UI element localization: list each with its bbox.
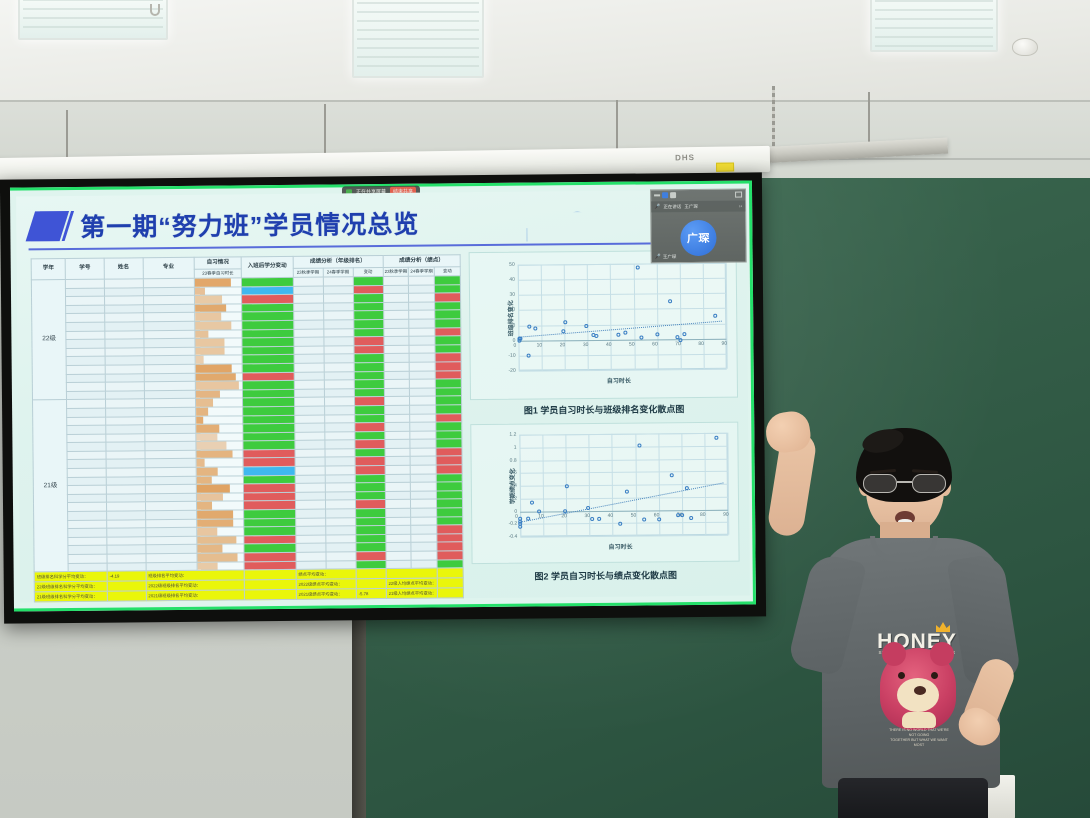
casing-brand-label: DHS [675,153,695,162]
cell-gpa-24spring [409,276,435,285]
x-axis-title: 自习时长 [607,376,631,385]
x-tick-label: 10 [537,342,543,348]
cell-name [106,459,145,468]
cell-rank-bar [354,388,384,397]
cell-rank-24spring [325,466,355,475]
cell-rank-bar [356,543,386,552]
cell-rank-24spring [324,371,354,380]
mic-small-icon: 🎤 [655,254,661,260]
cell-student-id [67,468,106,477]
cell-rank-bar [355,466,385,475]
cell-gpa-bar [435,310,461,319]
cell-rank-bar [356,560,386,569]
bear-belly [902,712,936,728]
cell-rank-bar [354,423,384,432]
cell-gpa-bar [437,559,463,568]
cell-rank-24spring [324,406,354,415]
cell-student-id [68,563,107,572]
cell-rank-24spring [325,440,355,449]
cell-rank-23fall [294,380,324,389]
cell-rank-bar [355,491,385,500]
cell-rank-24spring [323,303,353,312]
data-point [518,336,522,340]
bear-graphic [880,648,956,730]
cell-rank-bar [353,302,383,311]
cell-rank-bar [355,448,385,457]
ceiling-light-panel [870,0,998,52]
light-grill [875,0,993,47]
layout-grid-icon[interactable] [662,192,668,198]
cell-rank-bar [355,431,385,440]
cell-rank-23fall [295,458,325,467]
glasses-bridge [897,481,912,483]
cell-rank-bar [354,345,384,354]
cell-gpa-24spring [410,448,436,457]
summary-label: 22级班级排名科学分平均变动： [34,581,107,592]
cell-student-id [68,528,107,537]
bear-ear-right [930,642,954,666]
cell-rank-bar [355,500,385,509]
cell-rank-23fall [295,518,325,527]
cell-name [105,373,144,382]
cell-gpa-bar [435,276,461,285]
cell-student-id [66,296,105,305]
th-sub-gpa-24chun: 24春季学期 [409,267,435,277]
layout-list-icon[interactable] [670,192,676,198]
cell-gpa-24spring [411,517,437,526]
cell-gpa-24spring [410,371,436,380]
cell-student-id [68,485,107,494]
cell-gpa-23fall [384,371,410,380]
cell-rank-23fall [295,483,325,492]
cell-rank-24spring [324,354,354,363]
cell-rank-bar [353,285,383,294]
row-group-label: 22级 [31,280,66,401]
th-sub-rank-biandong: 变动 [353,267,383,277]
cell-gpa-24spring [410,422,436,431]
cell-gpa-23fall [383,276,409,285]
cell-rank-bar [355,517,385,526]
cell-rank-bar [354,354,384,363]
cell-gpa-23fall [385,431,411,440]
cell-rank-bar [354,337,384,346]
data-point [635,266,639,270]
x-tick-label: 20 [560,342,566,348]
summary-value [244,570,296,580]
data-point [642,517,646,521]
cell-rank-23fall [293,320,323,329]
cell-name [106,425,145,434]
data-point [565,484,569,488]
cell-gpa-23fall [384,422,410,431]
cell-rank-bar [353,319,383,328]
cell-gpa-bar [436,456,462,465]
data-point [656,332,660,336]
cell-gpa-23fall [386,551,412,560]
cell-gpa-bar [435,336,461,345]
cell-rank-bar [354,328,384,337]
video-tile-toolbar[interactable] [651,190,745,201]
data-point [584,324,588,328]
cell-student-id [68,511,107,520]
cell-gpa-bar [436,482,462,491]
cell-rank-23fall [295,526,325,535]
cell-gpa-23fall [383,293,409,302]
th-xuehao: 学号 [65,258,104,279]
cell-rank-23fall [293,294,323,303]
summary-label: 2021级绩点平均变动： [296,589,356,600]
ceiling-hook [150,4,160,16]
cell-gpa-23fall [384,388,410,397]
x-tick-label: 50 [631,512,637,518]
y-tick-label: 40 [501,277,515,283]
th-zhuanye: 专业 [143,257,195,278]
presentation-slide: 第一期“努力班”学员情况总览 [16,190,750,603]
cell-rank-23fall [295,509,325,518]
cell-rank-bar [354,371,384,380]
cell-name [106,451,145,460]
cell-rank-bar [354,380,384,389]
cell-rank-24spring [324,328,354,337]
summary-value [107,581,146,591]
table-element: 学年 学号 姓名 专业 自习情况 入班后学分变动 成绩分析（年级排名） 成绩分析… [31,254,464,602]
cell-gpa-23fall [384,328,410,337]
cell-gpa-bar [437,499,463,508]
cell-name [105,305,144,314]
cell-gpa-24spring [410,413,436,422]
cell-rank-23fall [295,535,325,544]
cell-rank-23fall [294,372,324,381]
cell-gpa-23fall [385,517,411,526]
screen-surface: 正在共享屏幕 结束共享 第一期“努力班”学员情况总览 [10,180,756,611]
cell-rank-23fall [293,277,323,286]
cell-gpa-24spring [410,405,436,414]
cell-gpa-bar [437,534,463,543]
th-sub-rank-23qiu: 23秋季学期 [293,268,323,278]
cell-gpa-23fall [383,302,409,311]
cell-gpa-23fall [385,440,411,449]
x-tick-label: 50 [629,341,635,347]
expand-icon[interactable] [735,192,742,198]
y-tick-label: -20 [502,368,516,374]
cell-name [106,433,145,442]
cell-gpa-bar [435,344,461,353]
cell-rank-bar [353,276,383,285]
cell-name [106,502,145,511]
x-tick-label: 90 [723,511,729,517]
cell-student-id [68,494,107,503]
page-title: 第一期“努力班”学员情况总览 [80,205,419,244]
figure-2-caption-wrap: 图2 学员自习时长与绩点变化散点图 [472,568,740,571]
cell-rank-24spring [326,543,356,552]
cell-gpa-23fall [384,405,410,414]
cell-gpa-23fall [385,525,411,534]
data-point [563,510,567,514]
cell-student-id [66,322,105,331]
cell-student-id [66,279,105,288]
cell-student-id [67,434,106,443]
x-tick-label: 40 [606,342,612,348]
video-participant-tile[interactable]: 🎤 正在讲话 王广琛 ›› 广琛 🎤 王广琛 [650,189,747,264]
cell-student-id [67,391,106,400]
cell-name [105,391,144,400]
summary-value: -4.19 [107,571,146,581]
cell-gpa-24spring [410,379,436,388]
cell-gpa-24spring [411,508,437,517]
cell-student-id [67,382,106,391]
cell-gpa-24spring [411,542,437,551]
share-border-right [749,180,756,604]
summary-label: 21级人均绩点平均变动： [386,588,438,598]
cell-gpa-23fall [385,457,411,466]
cell-rank-23fall [293,329,323,338]
projector-screen: 正在共享屏幕 结束共享 第一期“努力班”学员情况总览 [0,172,766,623]
cell-rank-bar [354,397,384,406]
cell-gpa-23fall [385,465,411,474]
cell-rank-bar [355,440,385,449]
cell-rank-bar [355,457,385,466]
cell-rank-23fall [294,337,324,346]
cell-gpa-23fall [383,319,409,328]
cell-name [105,365,144,374]
cell-student-id [67,399,106,408]
cell-gpa-24spring [409,345,435,354]
cell-gpa-bar [436,405,462,414]
cell-gpa-24spring [411,525,437,534]
cell-rank-23fall [296,552,326,561]
cell-gpa-24spring [411,534,437,543]
cell-rank-23fall [294,432,324,441]
y-tick-label: 1 [502,444,516,450]
student-overview-table: 学年 学号 姓名 专业 自习情况 入班后学分变动 成绩分析（年级排名） 成绩分析… [31,254,464,588]
cell-rank-bar [356,551,386,560]
x-tick-label: 40 [608,512,614,518]
cell-gpa-23fall [383,285,409,294]
cell-rank-24spring [325,449,355,458]
cell-rank-24spring [324,397,354,406]
cell-rank-23fall [294,406,324,415]
cell-rank-bar [355,509,385,518]
cell-student-id [67,374,106,383]
cell-rank-24spring [326,552,356,561]
light-chain [772,86,775,156]
cell-name [107,537,146,546]
cell-student-id [68,503,107,512]
cell-gpa-bar [437,516,463,525]
cell-gpa-23fall [384,379,410,388]
cell-name [104,296,143,305]
summary-value [356,569,386,579]
data-point [561,329,565,333]
ceiling-light-panel [352,0,484,78]
cell-rank-24spring [324,388,354,397]
cell-rank-23fall [293,311,323,320]
minimize-icon[interactable] [654,195,660,197]
cell-rank-24spring [324,363,354,372]
cell-gpa-bar [436,430,462,439]
cell-rank-24spring [325,474,355,483]
cell-rank-23fall [296,561,326,570]
th-xuefen-biandong: 入班后学分变动 [241,256,293,277]
cell-name [104,287,143,296]
cell-rank-24spring [324,380,354,389]
cell-gpa-bar [435,362,461,371]
cell-rank-24spring [325,500,355,509]
y-tick-label: -0.2 [503,521,517,527]
cell-rank-23fall [293,286,323,295]
chevron-right-icon[interactable]: ›› [739,204,742,210]
cell-rank-24spring [324,337,354,346]
cell-gpa-23fall [384,345,410,354]
cell-gpa-23fall [383,311,409,320]
cell-rank-24spring [325,535,355,544]
cell-gpa-24spring [410,439,436,448]
cell-gpa-24spring [411,551,437,560]
cell-gpa-24spring [409,336,435,345]
th-sub-gpa-biandong: 变动 [434,266,460,276]
summary-label: 班级排名科学分平均变动： [34,571,107,582]
cell-name [107,545,146,554]
cell-rank-24spring [323,311,353,320]
cell-student-id [67,425,106,434]
speaking-participant-name: 王广琛 [684,203,698,209]
cell-name [105,399,144,408]
cell-name [105,322,144,331]
bear-eye-left [898,672,905,679]
summary-value [107,591,146,601]
table-body: 22级21级班级排名科学分平均变动：-4.19班级排名平均变动：绩点平均变动：2… [31,276,463,602]
cell-rank-24spring [324,414,354,423]
y-tick-label: 1.2 [502,432,516,438]
speaking-status-label: 正在讲话 [663,204,681,210]
cell-gpa-24spring [411,499,437,508]
cell-gpa-23fall [385,474,411,483]
cell-gpa-23fall [385,448,411,457]
summary-label: 2022级绩点平均变动： [296,579,356,590]
cell-gpa-bar [436,396,462,405]
th-chengji-paiming: 成绩分析（年级排名） [293,255,383,267]
cell-gpa-24spring [409,302,435,311]
summary-label [386,568,438,578]
cell-student-id [66,314,105,323]
cell-name [106,511,145,520]
cell-gpa-24spring [409,310,435,319]
cell-gpa-bar [435,319,461,328]
data-point [526,354,530,358]
cell-rank-bar [355,483,385,492]
cell-gpa-24spring [411,456,437,465]
data-point [533,326,537,330]
cell-name [106,468,145,477]
cell-rank-23fall [295,475,325,484]
cell-gpa-23fall [385,482,411,491]
participant-name-label: 🎤 王广琛 [655,254,677,260]
cell-name [104,279,143,288]
cell-rank-bar [353,311,383,320]
cell-gpa-23fall [384,362,410,371]
cell-rank-24spring [326,560,356,569]
th-chengji-jidian: 成绩分析（绩点） [383,255,460,267]
cell-student-id [67,460,106,469]
cell-name [107,562,146,571]
summary-label: 22级人均绩点平均变动： [386,578,438,588]
cell-rank-24spring [325,483,355,492]
cell-rank-24spring [323,320,353,329]
cell-rank-24spring [325,526,355,535]
cell-student-id [66,357,105,366]
cell-name [105,348,144,357]
scatter-chart-2: 0102030405060708090-0.4-0.200.20.40.60.8… [471,423,738,564]
cell-gpa-24spring [410,396,436,405]
summary-value [437,578,463,588]
slide-title-block: 第一期“努力班”学员情况总览 [30,205,419,245]
cell-gpa-bar [435,353,461,362]
th-xingming: 姓名 [104,258,143,279]
summary-value [245,590,297,600]
th-sub-rank-24chun: 24春季学期 [323,267,353,277]
cell-rank-bar [354,414,384,423]
cell-rank-23fall [294,397,324,406]
active-speaker-strip: 🎤 正在讲话 王广琛 [651,201,745,213]
cell-student-id [67,442,106,451]
cell-rank-23fall [294,363,324,372]
cell-student-id [68,537,107,546]
figure-2-caption: 图2 学员自习时长与绩点变化散点图 [472,568,740,584]
bear-ear-left [882,642,906,666]
cell-rank-23fall [294,423,324,432]
th-zixi-qingkuang: 自习情况 [194,257,241,269]
light-grill [357,0,479,73]
th-sub-gpa-23qiu: 23秋季学期 [383,267,409,277]
cell-rank-23fall [294,389,324,398]
cell-name [105,330,144,339]
data-point [537,509,541,513]
cell-gpa-24spring [411,465,437,474]
cell-gpa-bar [437,525,463,534]
cell-gpa-23fall [386,560,412,569]
cell-gpa-24spring [409,285,435,294]
summary-label: 21级班级排名科学分平均变动： [34,591,107,602]
cell-name [107,554,146,563]
cell-rank-24spring [325,492,355,501]
cell-gpa-bar [435,284,461,293]
cell-gpa-bar [436,448,462,457]
cell-name [106,476,145,485]
cell-name [105,313,144,322]
cell-rank-24spring [323,277,353,286]
cell-rank-23fall [295,500,325,509]
summary-value [437,588,463,598]
cell-rank-24spring [323,285,353,294]
cell-rank-23fall [295,440,325,449]
shirt-graphic-footer: THERE IS NO WORLD THAT WE'RE NOT GOINGTO… [888,728,950,747]
ceiling-light-panel [18,0,168,40]
cell-name [105,339,144,348]
cell-gpa-23fall [384,414,410,423]
cell-rank-24spring [323,294,353,303]
participant-name-text: 王广琛 [663,254,677,260]
cell-gpa-bar [435,302,461,311]
cell-gpa-bar [435,327,461,336]
cell-gpa-bar [437,491,463,500]
cell-rank-23fall [295,449,325,458]
summary-label: 绩点平均变动： [296,569,356,580]
cell-gpa-23fall [385,500,411,509]
light-grill [23,0,163,35]
data-point [616,332,620,336]
summary-value [356,579,386,589]
x-axis-title: 自习时长 [608,542,632,551]
